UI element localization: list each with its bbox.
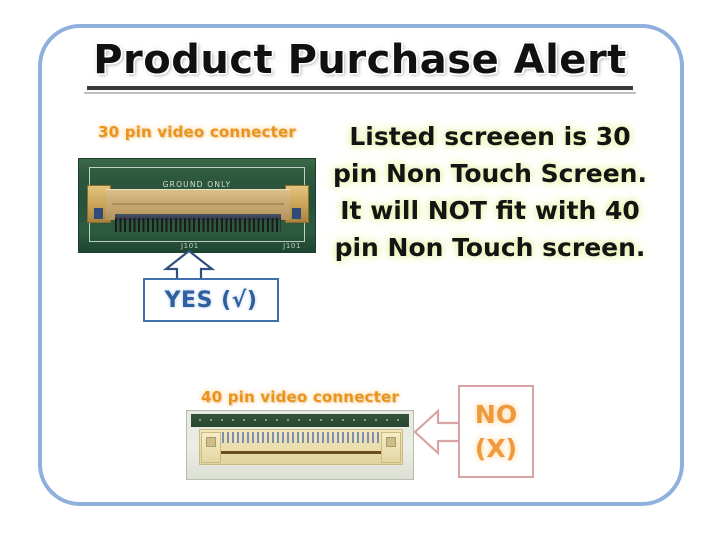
yes-verdict-label: YES (√) — [165, 288, 258, 313]
connector-slot-40 — [218, 451, 384, 454]
endblock-square-left — [206, 437, 216, 447]
connector-inner-line — [112, 203, 284, 205]
page-title-wrapper: Product Purchase Alert — [70, 36, 650, 90]
yes-verdict-box: YES (√) — [143, 278, 279, 322]
no-verdict-label-line1: NO — [475, 400, 517, 430]
pcb-strip-dots — [199, 419, 401, 421]
photo-40-pin-connector — [186, 410, 414, 480]
photo-30-pin-connector: GROUND ONLY J101 J101 — [78, 158, 316, 253]
connector-body-40pin — [199, 429, 403, 465]
yes-arrow-up-icon — [162, 249, 216, 281]
board-ref-label-right: J101 — [283, 242, 301, 250]
connector-pin-row-30 — [115, 218, 281, 232]
connector-pin-row-40 — [222, 432, 380, 443]
silkscreen-ground-only-text: GROUND ONLY — [79, 180, 315, 189]
no-arrow-left-icon — [412, 404, 462, 460]
page-title: Product Purchase Alert — [87, 36, 633, 90]
connector-endblock-right — [381, 432, 401, 463]
caption-40-pin-connector: 40 pin video connecter — [186, 388, 414, 406]
endblock-square-right — [386, 437, 396, 447]
alert-message-text: Listed screeen is 30 pin Non Touch Scree… — [332, 118, 648, 266]
product-alert-poster: Product Purchase Alert 30 pin video conn… — [0, 0, 720, 540]
title-underline-secondary — [84, 92, 636, 94]
connector-endblock-left — [201, 432, 221, 463]
latch-blue-marker-left — [94, 208, 103, 219]
no-verdict-box: NO (X) — [458, 385, 534, 478]
no-verdict-label-line2: (X) — [475, 434, 517, 464]
latch-blue-marker-right — [292, 208, 301, 219]
caption-30-pin-connector: 30 pin video connecter — [78, 123, 316, 141]
pcb-green-strip — [191, 414, 409, 427]
